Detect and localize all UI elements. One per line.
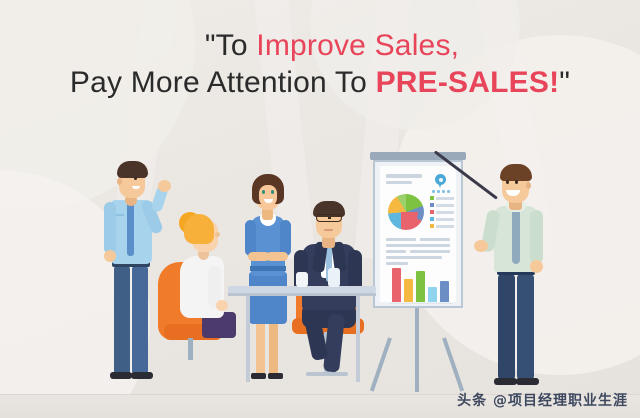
eyebrow	[133, 173, 139, 175]
shoe-right	[268, 373, 283, 379]
hair	[500, 164, 532, 181]
leg-left	[114, 266, 130, 374]
pin-dot	[439, 178, 443, 182]
headline-exclamation: !	[549, 66, 559, 99]
legend-swatch	[430, 196, 434, 200]
presentation-flipchart	[370, 152, 466, 392]
arm-left	[104, 202, 116, 254]
table-leg-right	[356, 296, 360, 382]
legend-swatch	[430, 203, 434, 207]
shoe-right	[131, 372, 153, 379]
dress-skirt	[249, 272, 287, 324]
shoe-right	[516, 378, 539, 385]
conference-table	[228, 286, 376, 293]
rating-star-icon	[442, 190, 445, 193]
face	[259, 185, 277, 207]
legend-swatch	[430, 224, 434, 228]
rating-star-icon	[447, 190, 450, 193]
rating-star-icon	[437, 190, 440, 193]
bar-chart-axis	[390, 303, 452, 304]
coffee-cup	[296, 272, 308, 287]
watermark: 头条 @项目经理职业生涯	[457, 390, 628, 410]
paper-text-line	[386, 244, 450, 247]
ear	[526, 182, 531, 189]
headline-quote-close: "	[559, 66, 570, 99]
person-seated-woman-blonde	[158, 200, 238, 360]
tie	[512, 208, 520, 264]
bar	[392, 268, 401, 302]
illustration-canvas: "To Improve Sales, Pay More Attention To…	[0, 0, 640, 418]
legend-swatch	[430, 217, 434, 221]
hand-left-pointing	[474, 240, 488, 252]
eyebrow-right	[514, 176, 521, 178]
eye-left	[262, 190, 265, 194]
chair-post	[188, 338, 193, 360]
water-glass	[328, 268, 340, 287]
paper-text-line	[386, 238, 416, 241]
legend-swatch	[430, 210, 434, 214]
bar-chart	[390, 266, 452, 302]
eye	[134, 177, 137, 180]
legend-label-bar	[436, 204, 454, 207]
hand-right	[530, 260, 543, 273]
leg-right	[132, 266, 148, 374]
leg-right	[269, 320, 278, 376]
table-leg-left	[246, 296, 250, 382]
mouth	[324, 229, 333, 231]
leg-left	[498, 274, 515, 380]
paper-text-line	[420, 238, 450, 241]
legend-label-bar	[436, 211, 454, 214]
shoe-left	[251, 373, 266, 379]
headline-line2-text: Pay More Attention To	[70, 66, 376, 99]
paper-text-line	[386, 256, 442, 259]
tripod-leg-center	[415, 308, 419, 392]
glasses-bridge	[328, 217, 331, 219]
flipchart-tripod	[370, 308, 466, 394]
headline-accent-2: PRE-SALES	[376, 66, 550, 99]
rating-star-icon	[432, 190, 435, 193]
hand-right	[158, 180, 171, 192]
headline-line-1: "To Improve Sales,	[0, 28, 640, 65]
leg-right	[517, 274, 534, 380]
headline: "To Improve Sales, Pay More Attention To…	[0, 28, 640, 101]
location-pin-icon	[435, 174, 446, 188]
flipchart-board	[373, 160, 463, 308]
eye-right	[271, 190, 274, 194]
hand	[216, 300, 228, 311]
headline-line-2: Pay More Attention To PRE-SALES!"	[0, 65, 640, 102]
shoe-left	[494, 378, 517, 385]
paper-text-line	[386, 262, 408, 265]
ear	[117, 178, 122, 185]
paper-text-line	[386, 250, 406, 253]
legend-label-bar	[436, 225, 454, 228]
chair-base	[306, 372, 348, 376]
hair	[117, 161, 148, 178]
shoe-left	[110, 372, 132, 379]
leg-left	[256, 320, 265, 376]
table-edge	[228, 293, 376, 296]
flipchart-paper	[380, 166, 456, 302]
paper-text-line	[386, 181, 412, 184]
bar	[404, 279, 413, 302]
headline-accent-1: Improve Sales,	[256, 29, 459, 62]
headline-quote-open: "To	[205, 29, 256, 62]
legend-label-bar	[436, 218, 454, 221]
flipchart-header-bar	[370, 152, 466, 160]
arm-left	[245, 220, 256, 256]
eyebrow-left	[504, 176, 511, 178]
eye-left	[506, 180, 509, 184]
bar	[416, 271, 425, 302]
arm-right	[530, 210, 543, 264]
eye-right	[515, 180, 518, 184]
legend-label-bar	[436, 197, 454, 200]
tripod-leg-right	[442, 337, 464, 391]
forearm-right	[266, 252, 288, 261]
nose	[215, 232, 220, 237]
hand-left	[104, 250, 116, 262]
bar	[440, 281, 449, 302]
bar	[428, 287, 437, 302]
paper-text-line	[386, 174, 422, 178]
paper-text-line	[410, 250, 450, 253]
hair	[184, 214, 214, 244]
belt	[250, 266, 286, 271]
tie	[127, 202, 134, 256]
